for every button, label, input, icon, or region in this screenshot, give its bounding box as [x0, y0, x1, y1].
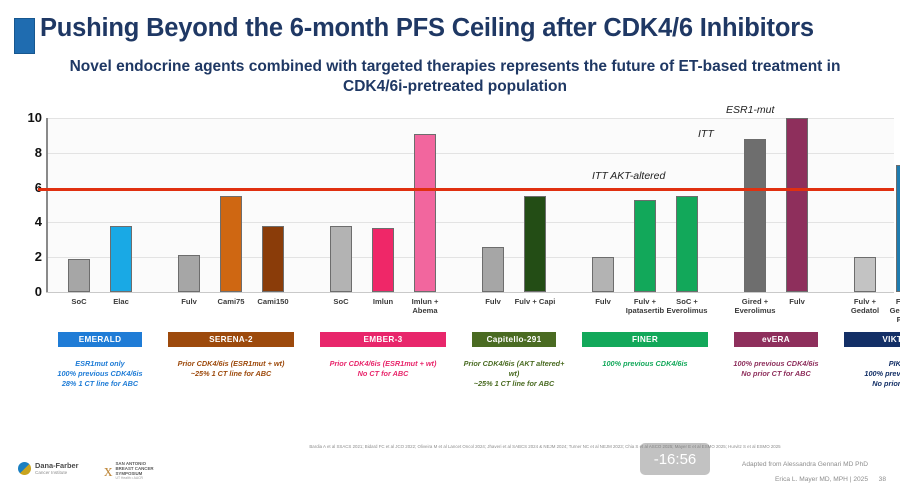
- trial-description: Prior CDK4/6is (ESR1mut + wt)~25% 1 CT l…: [154, 359, 308, 379]
- trial-banner[interactable]: VIKTORIA-1: [844, 332, 900, 347]
- presenter-credit: Erica L. Mayer MD, MPH | 2025: [775, 476, 868, 483]
- chart-bar: [854, 257, 876, 292]
- chart-bar: [110, 226, 132, 292]
- chart-gridline: [46, 257, 894, 258]
- chart-bar: [330, 226, 352, 292]
- x-axis-category-label: SoC: [318, 298, 364, 307]
- y-axis-line: [46, 118, 48, 293]
- x-axis-category-label: SoC: [56, 298, 102, 307]
- x-axis-category-label: Fulv + Capi: [512, 298, 558, 307]
- x-axis-category-label: Cami150: [250, 298, 296, 307]
- slide-subtitle: Novel endocrine agents combined with tar…: [60, 57, 850, 97]
- x-axis-category-label: Fulv + Ipatasertib: [622, 298, 668, 316]
- chart-bar: [372, 228, 394, 292]
- trial-description: Prior CDK4/6is (ESR1mut + wt)No CT for A…: [306, 359, 460, 379]
- sabcs-logo: x SAN ANTONIO BREAST CANCER SYMPOSIUM UT…: [104, 461, 154, 481]
- dana-farber-name: Dana-Farber: [35, 462, 79, 470]
- trial-banner[interactable]: FINER: [582, 332, 708, 347]
- chart-gridline: [46, 153, 894, 154]
- trial-description: 100% previous CDK4/6is: [568, 359, 722, 369]
- x-axis-category-label: Gired + Everolimus: [732, 298, 778, 316]
- dana-farber-mark-icon: [18, 462, 31, 475]
- y-axis-tick-label: 10: [14, 110, 42, 125]
- x-axis-category-label: Fulv + Gedatol: [842, 298, 888, 316]
- x-axis-category-label: SoC + Everolimus: [664, 298, 710, 316]
- trial-description: ESR1mut only100% previous CDK4/6is28% 1 …: [44, 359, 156, 389]
- chart-bar: [786, 118, 808, 292]
- x-axis-category-label: Imlun: [360, 298, 406, 307]
- y-axis-tick-label: 0: [14, 284, 42, 299]
- chart-bar: [592, 257, 614, 292]
- chart-bar: [634, 200, 656, 292]
- x-axis-category-label: Fulv + Gedatol + Palbo: [884, 298, 900, 325]
- chart-bar: [262, 226, 284, 292]
- chart-bar: [676, 196, 698, 292]
- citation-text: Bardia A et al SSACS 2021; Bidard FC et …: [200, 444, 890, 449]
- trial-banner[interactable]: EMBER-3: [320, 332, 446, 347]
- presentation-timer[interactable]: -16:56: [640, 443, 710, 475]
- trial-description: Prior CDK4/6is (AKT altered+ wt)~25% 1 C…: [458, 359, 570, 389]
- y-axis-tick-label: 4: [14, 214, 42, 229]
- chart-bar: [524, 196, 546, 292]
- chart-annotation: ITT: [698, 128, 714, 140]
- trial-banner[interactable]: EMERALD: [58, 332, 142, 347]
- sabcs-mark-icon: x: [104, 464, 113, 478]
- page-number: 38: [879, 476, 886, 483]
- chart-bar: [68, 259, 90, 292]
- chart-bar: [896, 165, 900, 292]
- x-axis-category-label: Fulv: [470, 298, 516, 307]
- pfs-threshold-line: [38, 188, 894, 191]
- chart-annotation: ESR1-mut: [726, 104, 774, 116]
- x-axis-category-label: Fulv: [774, 298, 820, 307]
- chart-bar: [744, 139, 766, 292]
- trial-banner[interactable]: evERA: [734, 332, 818, 347]
- chart-plot-area: [46, 118, 894, 292]
- x-axis-category-label: Imlun + Abema: [402, 298, 448, 316]
- chart-annotation: ITT AKT-altered: [592, 170, 665, 182]
- chart-bar: [482, 247, 504, 292]
- title-accent-bar: [14, 18, 35, 54]
- dana-farber-subtitle: Cancer Institute: [35, 470, 79, 475]
- slide-header: Pushing Beyond the 6-month PFS Ceiling a…: [0, 0, 900, 105]
- x-axis-line: [46, 292, 894, 293]
- page-title: Pushing Beyond the 6-month PFS Ceiling a…: [40, 14, 890, 43]
- trial-banner[interactable]: Capitello-291: [472, 332, 556, 347]
- x-axis-category-label: Fulv: [166, 298, 212, 307]
- x-axis-category-label: Cami75: [208, 298, 254, 307]
- dana-farber-logo: Dana-Farber Cancer Institute: [18, 462, 79, 475]
- chart-bar: [220, 196, 242, 292]
- sabcs-sponsors: UT Health • AACR: [116, 477, 154, 481]
- chart-bar: [178, 255, 200, 292]
- x-axis-category-label: Fulv: [580, 298, 626, 307]
- trial-description: PIK3CA wt100% previous CDK4/6isNo prior …: [830, 359, 900, 389]
- trial-description: 100% previous CDK4/6isNo prior CT for AB…: [720, 359, 832, 379]
- trial-banner[interactable]: SERENA-2: [168, 332, 294, 347]
- adapted-from-text: Adapted from Alessandra Gennari MD PhD: [742, 461, 868, 468]
- chart-bar: [414, 134, 436, 292]
- x-axis-category-label: Elac: [98, 298, 144, 307]
- y-axis-tick-label: 2: [14, 249, 42, 264]
- pfs-bar-chart: 0246810SoCElacFulvCami75Cami150SoCImlunI…: [14, 118, 894, 303]
- chart-gridline: [46, 118, 894, 119]
- y-axis-tick-label: 8: [14, 145, 42, 160]
- chart-gridline: [46, 222, 894, 223]
